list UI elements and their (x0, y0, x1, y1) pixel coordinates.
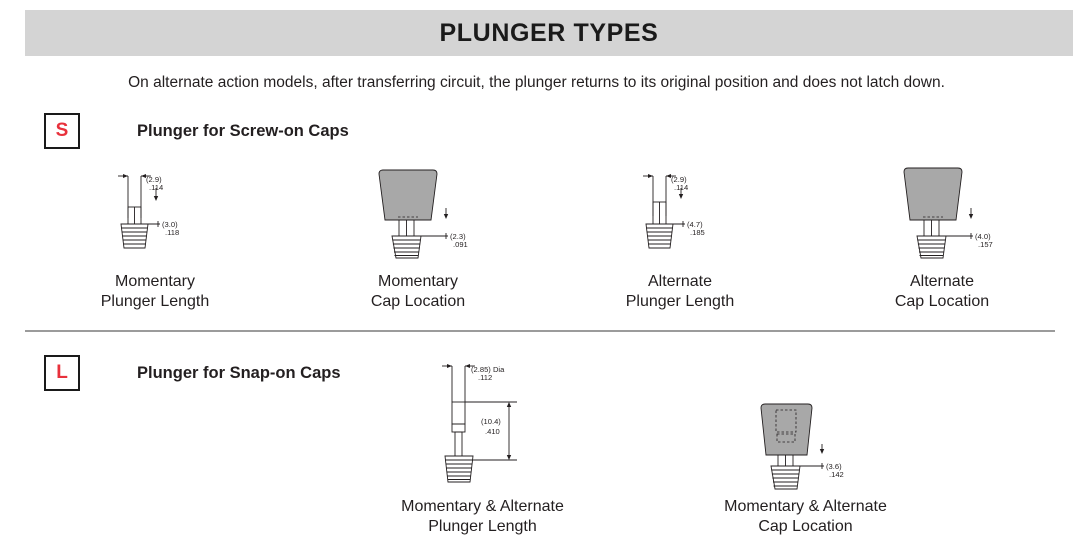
figure-momentary-alternate-plunger-length: (2.85) Dia .112 (10.4) .410 (425, 358, 555, 488)
dim-inch-width: .114 (149, 183, 163, 192)
figure-caption-momentary-alternate-cap-location: Momentary & Alternate Cap Location (703, 497, 908, 538)
section-badge-l: L (44, 355, 80, 391)
section-title-screw-on: Plunger for Screw-on Caps (137, 122, 349, 141)
figure-alternate-cap-location: (4.0) .157 (895, 162, 1020, 260)
figure-caption-momentary-plunger-length: Momentary Plunger Length (55, 272, 255, 313)
figure-momentary-cap-location: (2.3) .091 (370, 168, 490, 260)
dim-inch-length: .410 (485, 427, 500, 436)
figure-caption-alternate-cap-location: Alternate Cap Location (842, 272, 1042, 313)
figure-momentary-plunger-length: (2.9) .114 (3.0) .118 (108, 168, 218, 260)
figure-caption-momentary-cap-location: Momentary Cap Location (318, 272, 518, 313)
dim-inch-diameter: .112 (478, 373, 492, 382)
section-header-snap-on: L Plunger for Snap-on Caps (44, 355, 341, 391)
dim-inch-height: .185 (690, 228, 705, 237)
dim-metric-length: (10.4) (481, 417, 501, 426)
section-badge-s: S (44, 113, 80, 149)
dim-inch-width: .114 (674, 183, 688, 192)
dim-inch-height: .118 (165, 228, 179, 237)
section-divider (25, 330, 1055, 332)
section-header-screw-on: S Plunger for Screw-on Caps (44, 113, 349, 149)
dim-inch-height: .157 (978, 240, 993, 249)
figure-caption-momentary-alternate-plunger-length: Momentary & Alternate Plunger Length (380, 497, 585, 538)
dim-inch-height: .142 (829, 470, 844, 479)
page-title: PLUNGER TYPES (440, 19, 659, 48)
page-header-bar: PLUNGER TYPES (25, 10, 1073, 56)
intro-note: On alternate action models, after transf… (0, 74, 1073, 92)
figure-alternate-plunger-length: (2.9) .114 (4.7) .185 (633, 168, 748, 260)
section-title-snap-on: Plunger for Snap-on Caps (137, 364, 341, 383)
dim-inch-height: .091 (453, 240, 468, 249)
figure-momentary-alternate-cap-location: (3.6) .142 (752, 400, 877, 492)
figure-caption-alternate-plunger-length: Alternate Plunger Length (580, 272, 780, 313)
